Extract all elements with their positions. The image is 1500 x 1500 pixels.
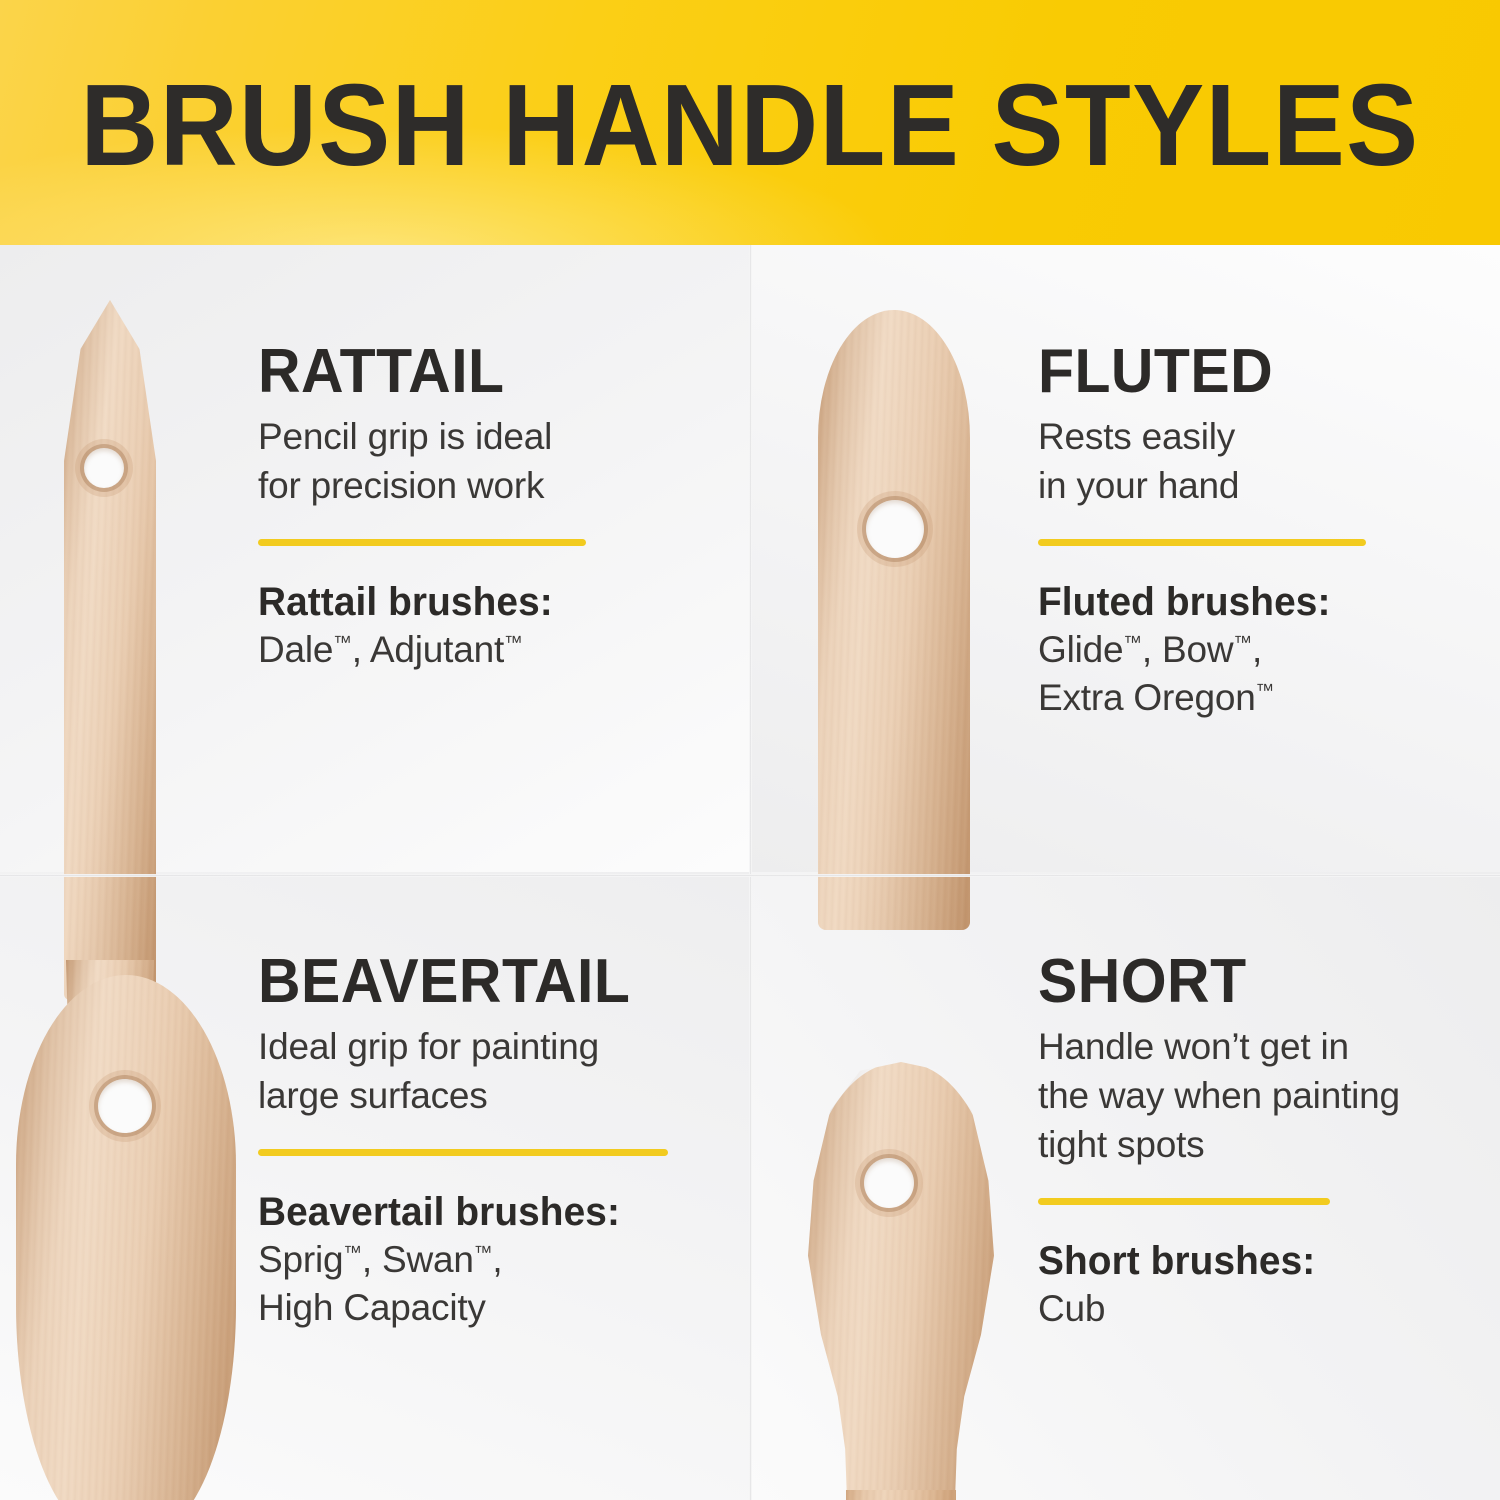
wood-shading — [818, 310, 970, 930]
brushes-label-fluted: Fluted brushes: — [1038, 580, 1426, 624]
desc-line-1: Rests easily — [1038, 416, 1235, 457]
brush-handle-styles-infographic: BRUSH HANDLE STYLES — [0, 0, 1500, 1500]
desc-line-1: Handle won’t get in — [1038, 1026, 1349, 1067]
fluted-text-block: FLUTED Rests easily in your hand Fluted … — [1038, 340, 1438, 722]
vertical-divider — [749, 245, 752, 1500]
desc-line-2: the way when painting — [1038, 1075, 1400, 1116]
trademark-symbol: ™ — [474, 1242, 493, 1263]
hang-hole — [866, 500, 924, 558]
style-description-short: Handle won’t get in the way when paintin… — [1038, 1023, 1468, 1169]
brushes-label-short: Short brushes: — [1038, 1239, 1455, 1283]
rattail-handle-image — [64, 300, 156, 1000]
hang-hole — [98, 1079, 152, 1133]
short-handle-shaft — [846, 1490, 956, 1500]
page-title: BRUSH HANDLE STYLES — [80, 67, 1419, 183]
wood-shading — [808, 1062, 994, 1500]
accent-rule-short — [1038, 1198, 1330, 1205]
brushes-list-short: Cub — [1038, 1285, 1468, 1333]
horizontal-divider — [0, 874, 1500, 877]
accent-rule-beavertail — [258, 1149, 668, 1156]
trademark-symbol: ™ — [1123, 632, 1142, 653]
short-handle-image — [808, 1062, 994, 1500]
fluted-handle-image — [818, 310, 970, 930]
style-name-fluted: FLUTED — [1038, 340, 1418, 403]
wood-texture — [846, 1490, 956, 1500]
trademark-symbol: ™ — [333, 632, 352, 653]
desc-line-2: in your hand — [1038, 465, 1239, 506]
style-description-rattail: Pencil grip is ideal for precision work — [258, 413, 658, 511]
short-text-block: SHORT Handle won’t get in the way when p… — [1038, 950, 1468, 1333]
brushes-list-beavertail: Sprig™, Swan™,High Capacity — [258, 1236, 688, 1332]
brushes-label-beavertail: Beavertail brushes: — [258, 1190, 675, 1234]
beavertail-handle-image — [16, 975, 236, 1500]
trademark-symbol: ™ — [1233, 632, 1252, 653]
header-banner: BRUSH HANDLE STYLES — [0, 0, 1500, 245]
accent-rule-rattail — [258, 539, 586, 546]
style-description-beavertail: Ideal grip for painting large surfaces — [258, 1023, 688, 1121]
desc-line-2: large surfaces — [258, 1075, 488, 1116]
desc-line-2: for precision work — [258, 465, 544, 506]
desc-line-3: tight spots — [1038, 1124, 1204, 1165]
accent-rule-fluted — [1038, 539, 1366, 546]
brushes-label-rattail: Rattail brushes: — [258, 580, 646, 624]
trademark-symbol: ™ — [343, 1242, 362, 1263]
trademark-symbol: ™ — [1256, 680, 1275, 701]
desc-line-1: Ideal grip for painting — [258, 1026, 599, 1067]
style-name-beavertail: BEAVERTAIL — [258, 950, 667, 1013]
trademark-symbol: ™ — [504, 632, 523, 653]
beavertail-text-block: BEAVERTAIL Ideal grip for painting large… — [258, 950, 688, 1332]
style-name-rattail: RATTAIL — [258, 340, 638, 403]
wood-shading — [64, 300, 156, 1000]
style-description-fluted: Rests easily in your hand — [1038, 413, 1438, 511]
hang-hole — [864, 1158, 914, 1208]
brushes-list-fluted: Glide™, Bow™,Extra Oregon™ — [1038, 626, 1438, 722]
wood-shading — [16, 975, 236, 1500]
style-name-short: SHORT — [1038, 950, 1447, 1013]
brushes-list-rattail: Dale™, Adjutant™ — [258, 626, 658, 674]
rattail-text-block: RATTAIL Pencil grip is ideal for precisi… — [258, 340, 658, 674]
desc-line-1: Pencil grip is ideal — [258, 416, 552, 457]
hang-hole — [84, 448, 124, 488]
